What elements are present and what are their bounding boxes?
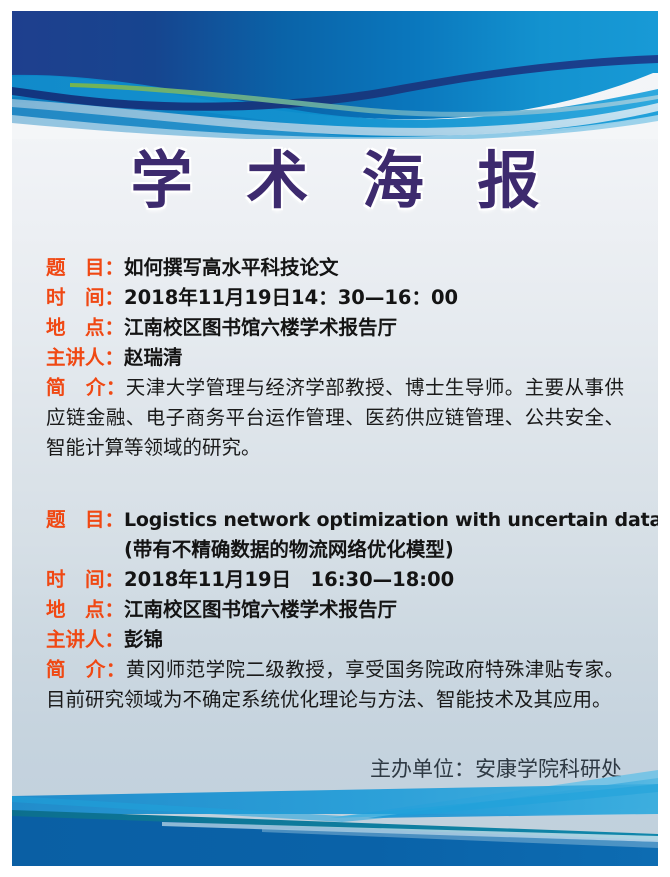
bio-label-1: 简 介：	[46, 376, 126, 399]
place-value-1: 江南校区图书馆六楼学术报告厅	[124, 313, 624, 343]
speaker-value-2: 彭锦	[124, 625, 624, 655]
topic-subline-2: 题 目： (带有不精确数据的物流网络优化模型)	[46, 535, 624, 565]
section-divider	[46, 463, 624, 505]
place-row-2: 地 点： 江南校区图书馆六楼学术报告厅	[46, 595, 624, 625]
speaker-row-2: 主讲人： 彭锦	[46, 625, 624, 655]
speaker-row-1: 主讲人： 赵瑞清	[46, 343, 624, 373]
poster-canvas: 学 术 海 报 题 目： 如何撰写高水平科技论文 时 间： 2018年11月19…	[12, 11, 658, 866]
topic-label-2: 题 目：	[46, 505, 124, 535]
topic-subline-text-2: (带有不精确数据的物流网络优化模型)	[124, 535, 454, 565]
footer-wave-graphic	[12, 762, 658, 866]
time-row-2: 时 间： 2018年11月19日 16:30—18:00	[46, 565, 624, 595]
title-block: 学 术 海 报	[12, 147, 658, 215]
speaker-value-1: 赵瑞清	[124, 343, 624, 373]
topic-value-1: 如何撰写高水平科技论文	[124, 253, 624, 283]
academic-poster: 学 术 海 报 题 目： 如何撰写高水平科技论文 时 间： 2018年11月19…	[0, 0, 670, 877]
bio-label-2: 简 介：	[46, 658, 126, 681]
bio-row-1: 简 介：天津大学管理与经济学部教授、博士生导师。主要从事供应链金融、电子商务平台…	[46, 373, 624, 463]
time-value-1: 2018年11月19日14：30—16：00	[124, 283, 624, 313]
time-row-1: 时 间： 2018年11月19日14：30—16：00	[46, 283, 624, 313]
time-label-1: 时 间：	[46, 283, 124, 313]
speaker-label-1: 主讲人：	[46, 343, 124, 373]
speaker-label-2: 主讲人：	[46, 625, 124, 655]
header-wave-graphic	[12, 11, 658, 139]
topic-row-1: 题 目： 如何撰写高水平科技论文	[46, 253, 624, 283]
talk-section-2: 题 目： Logistics network optimization with…	[46, 505, 624, 715]
poster-content: 题 目： 如何撰写高水平科技论文 时 间： 2018年11月19日14：30—1…	[12, 253, 658, 715]
bio-value-2: 黄冈师范学院二级教授，享受国务院政府特殊津贴专家。目前研究领域为不确定系统优化理…	[46, 658, 624, 711]
topic-row-2: 题 目： Logistics network optimization with…	[46, 505, 624, 535]
place-label-2: 地 点：	[46, 595, 124, 625]
topic-value-2: Logistics network optimization with unce…	[124, 505, 658, 535]
place-row-1: 地 点： 江南校区图书馆六楼学术报告厅	[46, 313, 624, 343]
talk-section-1: 题 目： 如何撰写高水平科技论文 时 间： 2018年11月19日14：30—1…	[46, 253, 624, 463]
page-title: 学 术 海 报	[12, 147, 658, 215]
time-label-2: 时 间：	[46, 565, 124, 595]
topic-label-1: 题 目：	[46, 253, 124, 283]
time-value-2: 2018年11月19日 16:30—18:00	[124, 565, 624, 595]
bio-row-2: 简 介：黄冈师范学院二级教授，享受国务院政府特殊津贴专家。目前研究领域为不确定系…	[46, 655, 624, 715]
place-label-1: 地 点：	[46, 313, 124, 343]
bio-value-1: 天津大学管理与经济学部教授、博士生导师。主要从事供应链金融、电子商务平台运作管理…	[46, 376, 624, 459]
place-value-2: 江南校区图书馆六楼学术报告厅	[124, 595, 624, 625]
